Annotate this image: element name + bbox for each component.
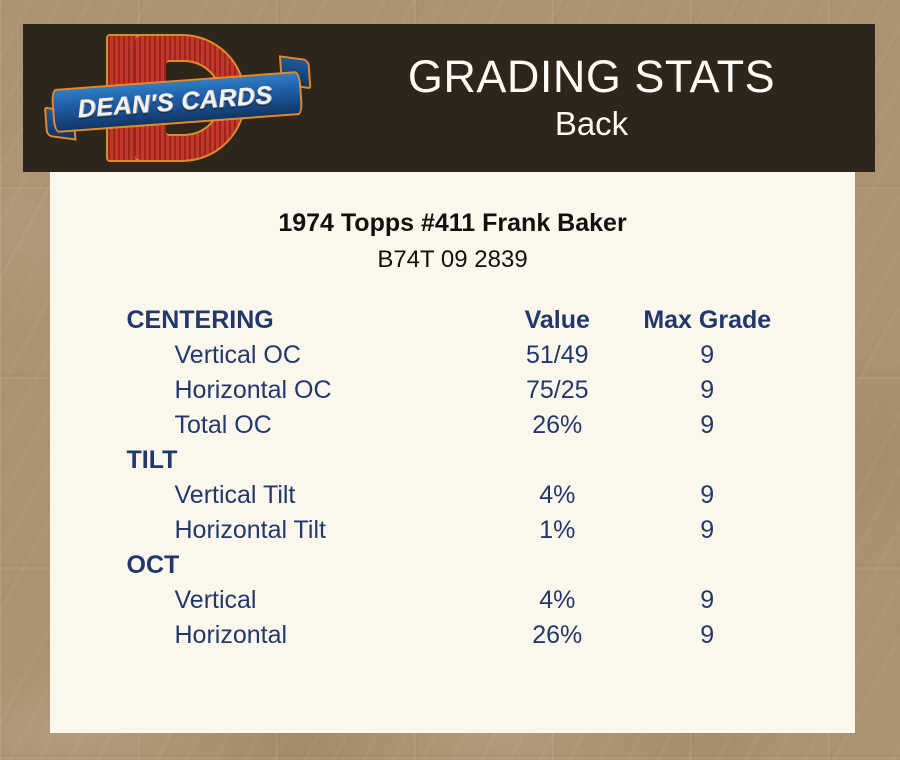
section-spacer-value xyxy=(479,443,636,478)
stat-label: Horizontal xyxy=(127,618,479,653)
stat-value: 4% xyxy=(479,583,636,618)
content-panel: 1974 Topps #411 Frank Baker B74T 09 2839… xyxy=(50,172,855,733)
stat-row: Horizontal Tilt1%9 xyxy=(127,513,779,548)
stat-row: Horizontal26%9 xyxy=(127,618,779,653)
section-title: TILT xyxy=(127,443,479,478)
stat-value: 4% xyxy=(479,478,636,513)
section-header-row: CENTERINGValueMax Grade xyxy=(127,303,779,338)
stat-row: Vertical Tilt4%9 xyxy=(127,478,779,513)
stat-value: 26% xyxy=(479,408,636,443)
page-subtitle: Back xyxy=(555,104,628,144)
stat-max-grade: 9 xyxy=(636,618,779,653)
stat-label: Horizontal OC xyxy=(127,373,479,408)
stat-label: Total OC xyxy=(127,408,479,443)
stat-row: Vertical4%9 xyxy=(127,583,779,618)
stat-max-grade: 9 xyxy=(636,513,779,548)
header-bar: DEAN'S CARDS GRADING STATS Back xyxy=(23,24,875,172)
stat-label: Vertical xyxy=(127,583,479,618)
stat-label: Vertical Tilt xyxy=(127,478,479,513)
stat-row: Vertical OC51/499 xyxy=(127,338,779,373)
stat-value: 75/25 xyxy=(479,373,636,408)
logo-ribbon-icon: DEAN'S CARDS xyxy=(46,67,307,138)
section-spacer-grade xyxy=(636,548,779,583)
column-header-value: Value xyxy=(479,303,636,338)
page-title: GRADING STATS xyxy=(408,53,775,100)
stat-max-grade: 9 xyxy=(636,338,779,373)
stat-max-grade: 9 xyxy=(636,478,779,513)
section-header-row: TILT xyxy=(127,443,779,478)
stat-max-grade: 9 xyxy=(636,373,779,408)
section-spacer-value xyxy=(479,548,636,583)
stat-label: Horizontal Tilt xyxy=(127,513,479,548)
header-title-block: GRADING STATS Back xyxy=(308,24,875,172)
stat-row: Horizontal OC75/259 xyxy=(127,373,779,408)
grading-stats-table: CENTERINGValueMax GradeVertical OC51/499… xyxy=(127,303,779,653)
card-serial-number: B74T 09 2839 xyxy=(50,246,855,274)
logo-wordmark: DEAN'S CARDS xyxy=(47,71,304,133)
section-header-row: OCT xyxy=(127,548,779,583)
column-header-max-grade: Max Grade xyxy=(636,303,779,338)
section-title: OCT xyxy=(127,548,479,583)
card-title: 1974 Topps #411 Frank Baker xyxy=(50,209,855,238)
stat-value: 26% xyxy=(479,618,636,653)
section-title: CENTERING xyxy=(127,303,479,338)
stat-value: 1% xyxy=(479,513,636,548)
stat-max-grade: 9 xyxy=(636,583,779,618)
deans-cards-logo[interactable]: DEAN'S CARDS xyxy=(48,28,308,168)
stat-max-grade: 9 xyxy=(636,408,779,443)
stat-row: Total OC26%9 xyxy=(127,408,779,443)
stat-label: Vertical OC xyxy=(127,338,479,373)
stat-value: 51/49 xyxy=(479,338,636,373)
section-spacer-grade xyxy=(636,443,779,478)
